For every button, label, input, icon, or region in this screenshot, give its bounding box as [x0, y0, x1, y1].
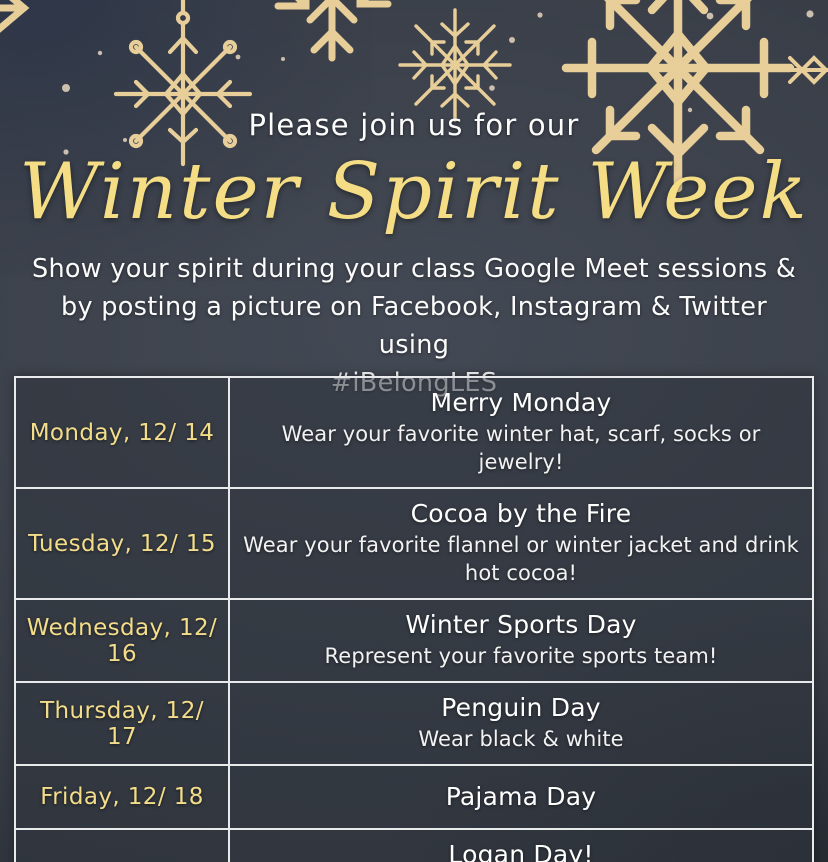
- schedule-date: Monday, 12/21: [16, 830, 230, 862]
- table-row: Thursday, 12/ 17 Penguin Day Wear black …: [16, 683, 812, 766]
- schedule-theme-title: Merry Monday: [431, 387, 612, 418]
- table-row: Friday, 12/ 18 Pajama Day: [16, 766, 812, 830]
- subtitle-line-2: by posting a picture on Facebook, Instag…: [28, 288, 800, 364]
- schedule-theme-title: Logan Day!: [448, 839, 593, 862]
- schedule-description: Pajama Day: [230, 766, 812, 828]
- winter-spirit-week-poster: Please join us for our Winter Spirit Wee…: [0, 0, 828, 862]
- schedule-date: Thursday, 12/ 17: [16, 683, 230, 764]
- schedule-theme-title: Cocoa by the Fire: [411, 498, 632, 529]
- schedule-date: Tuesday, 12/ 15: [16, 489, 230, 598]
- join-us-line: Please join us for our: [0, 108, 828, 142]
- schedule-theme-detail: Wear your favorite winter hat, scarf, so…: [240, 420, 802, 476]
- schedule-date: Monday, 12/ 14: [16, 378, 230, 487]
- schedule-description: Cocoa by the Fire Wear your favorite fla…: [230, 489, 812, 598]
- schedule-date: Friday, 12/ 18: [16, 766, 230, 828]
- table-row: Tuesday, 12/ 15 Cocoa by the Fire Wear y…: [16, 489, 812, 600]
- schedule-date: Wednesday, 12/ 16: [16, 600, 230, 681]
- page-title: Winter Spirit Week: [0, 150, 828, 234]
- spirit-week-schedule-table: Monday, 12/ 14 Merry Monday Wear your fa…: [14, 376, 814, 862]
- schedule-theme-title: Pajama Day: [446, 781, 597, 812]
- schedule-description: Penguin Day Wear black & white: [230, 683, 812, 764]
- schedule-description: Winter Sports Day Represent your favorit…: [230, 600, 812, 681]
- schedule-theme-title: Penguin Day: [441, 692, 600, 723]
- schedule-description: Merry Monday Wear your favorite winter h…: [230, 378, 812, 487]
- table-row: Wednesday, 12/ 16 Winter Sports Day Repr…: [16, 600, 812, 683]
- schedule-theme-title: Winter Sports Day: [405, 609, 636, 640]
- table-row: Monday, 12/ 14 Merry Monday Wear your fa…: [16, 378, 812, 489]
- schedule-theme-detail: Represent your favorite sports team!: [325, 642, 718, 670]
- schedule-theme-detail: Wear your favorite flannel or winter jac…: [240, 531, 802, 587]
- subtitle-line-1: Show your spirit during your class Googl…: [28, 250, 800, 288]
- schedule-theme-detail: Wear black & white: [418, 725, 623, 753]
- schedule-description: Logan Day! Wear any clothing with Logan …: [230, 830, 812, 862]
- table-row: Monday, 12/21 Logan Day! Wear any clothi…: [16, 830, 812, 862]
